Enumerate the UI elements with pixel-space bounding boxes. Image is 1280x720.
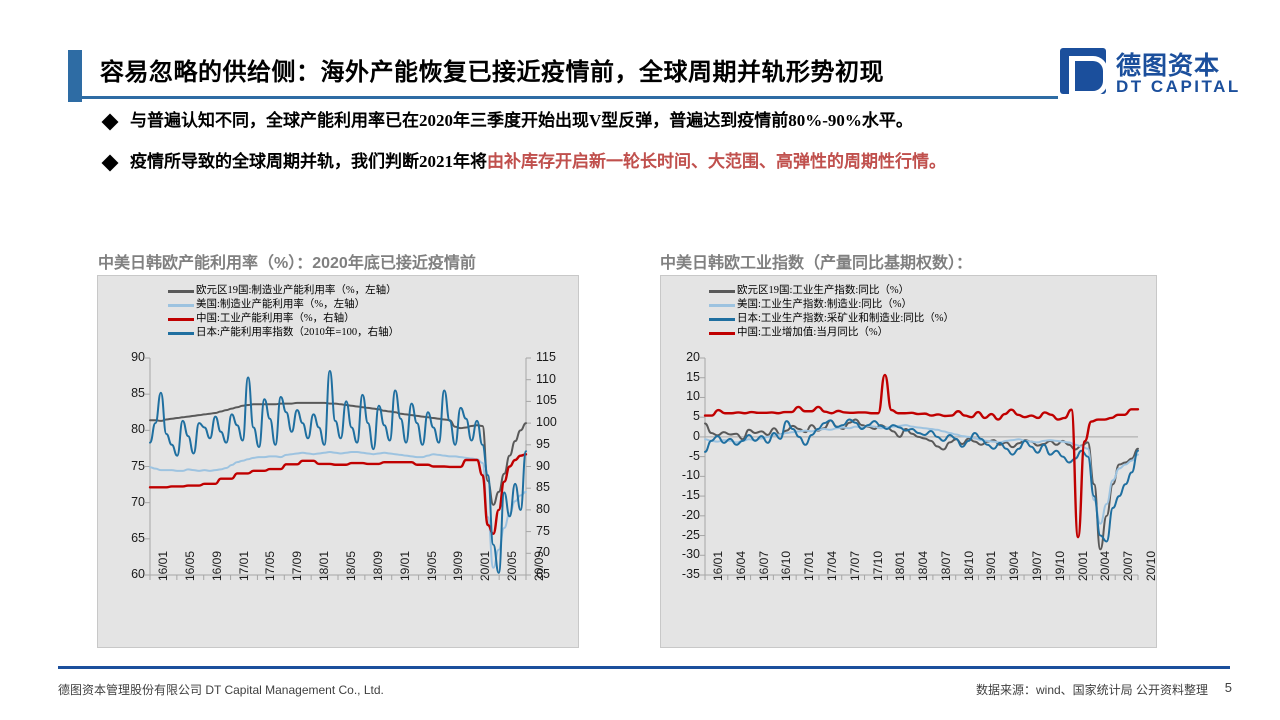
title-accent-bar xyxy=(68,50,82,102)
plot-area xyxy=(661,276,1156,647)
chart-line xyxy=(150,452,526,568)
title-divider xyxy=(68,96,1058,99)
bullet-1-segment-plain: 与普遍认知不同，全球产能利用率已在2020年三季度开始出现V型反弹，普遍达到疫情… xyxy=(130,111,913,130)
chart-capacity-utilization: 欧元区19国:制造业产能利用率（%，左轴）美国:制造业产能利用率（%，左轴）中国… xyxy=(97,275,579,648)
logo-name-en: DT CAPITAL xyxy=(1116,77,1241,97)
plot-area xyxy=(98,276,578,647)
slide: 容易忽略的供给侧：海外产能恢复已接近疫情前，全球周期并轨形势初现 德图资本 DT… xyxy=(0,0,1280,720)
footer-source: 数据来源：wind、国家统计局 公开资料整理 xyxy=(976,681,1208,698)
chart-line xyxy=(150,454,526,533)
chart-title-capacity: 中美日韩欧产能利用率（%）：2020年底已接近疫情前 xyxy=(98,249,476,273)
page-number: 5 xyxy=(1225,680,1232,695)
diamond-bullet-icon xyxy=(102,155,119,172)
footer-company: 德图资本管理股份有限公司 DT Capital Management Co., … xyxy=(58,681,384,698)
chart-industrial-production: 欧元区19国:工业生产指数:同比（%）美国:工业生产指数:制造业:同比（%）日本… xyxy=(660,275,1157,648)
chart-line xyxy=(705,375,1138,537)
bullet-item-1: 与普遍认知不同，全球产能利用率已在2020年三季度开始出现V型反弹，普遍达到疫情… xyxy=(104,110,913,133)
footer-divider xyxy=(58,666,1230,669)
logo-mark-icon xyxy=(1060,48,1106,94)
page-title: 容易忽略的供给侧：海外产能恢复已接近疫情前，全球周期并轨形势初现 xyxy=(100,52,884,87)
company-logo: 德图资本 DT CAPITAL xyxy=(1060,46,1250,104)
bullet-2-segment-highlight: 由补库存开启新一轮长时间、大范围、高弹性的周期性行情。 xyxy=(487,152,946,171)
bullet-2-segment-plain: 疫情所导致的全球周期并轨，我们判断2021年将 xyxy=(130,152,487,171)
chart-line xyxy=(150,371,526,573)
diamond-bullet-icon xyxy=(102,114,119,131)
bullet-text-2: 疫情所导致的全球周期并轨，我们判断2021年将由补库存开启新一轮长时间、大范围、… xyxy=(130,151,946,174)
bullet-item-2: 疫情所导致的全球周期并轨，我们判断2021年将由补库存开启新一轮长时间、大范围、… xyxy=(104,151,946,174)
chart-title-industrial: 中美日韩欧工业指数（产量同比基期权数）： xyxy=(660,249,972,273)
bullet-text-1: 与普遍认知不同，全球产能利用率已在2020年三季度开始出现V型反弹，普遍达到疫情… xyxy=(130,110,913,133)
